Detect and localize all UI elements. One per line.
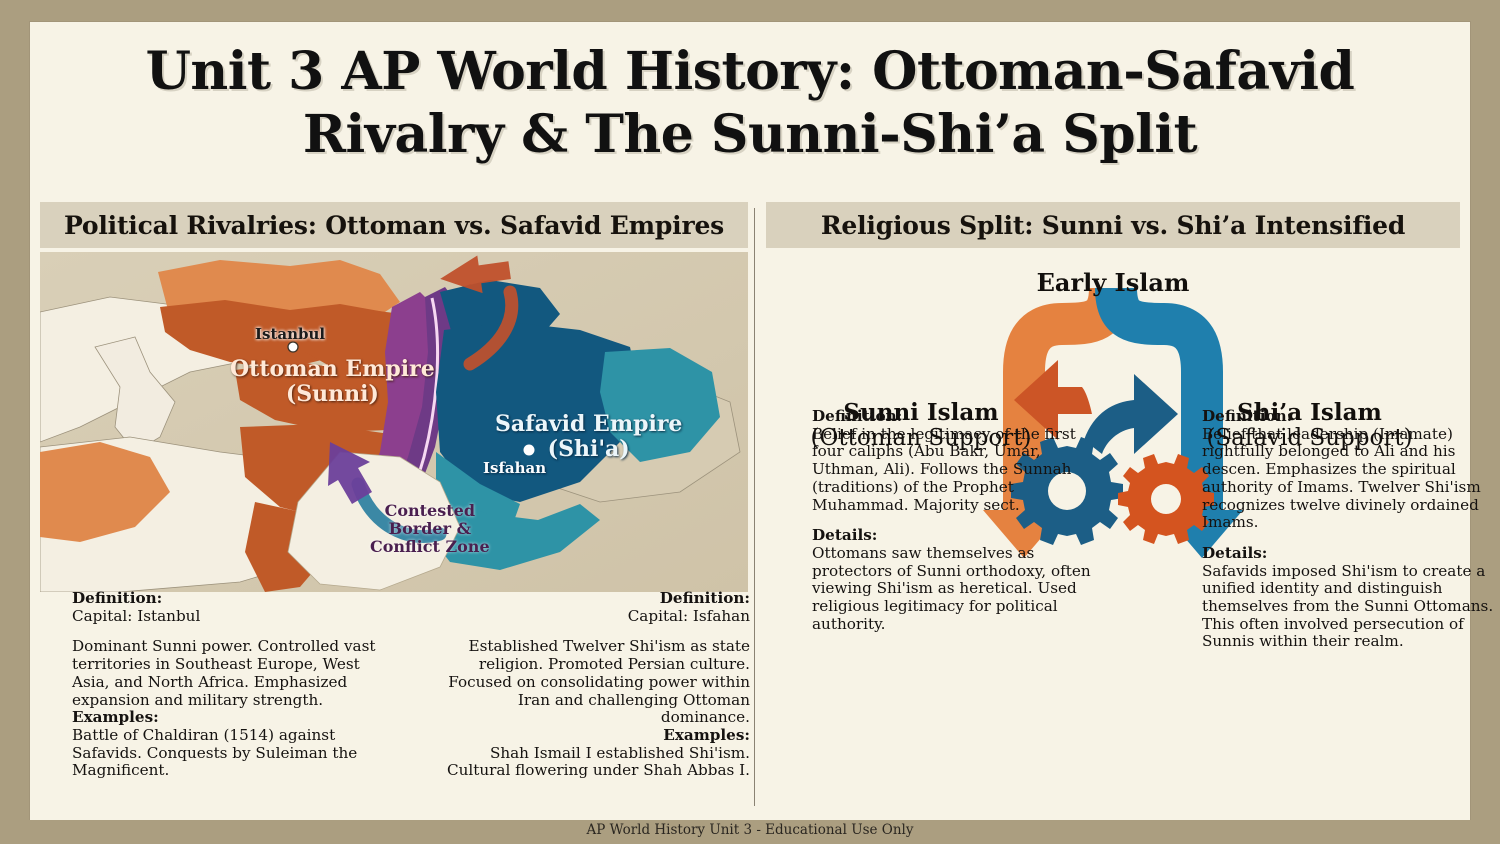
page-title: Unit 3 AP World History: Ottoman-Safavid… bbox=[30, 40, 1470, 167]
shia-text-column: Definition: Belief that leadership (Imam… bbox=[1202, 408, 1500, 651]
sunni-details-label: Details: bbox=[812, 527, 1112, 545]
shia-details-value: Safavids imposed Shi'ism to create a uni… bbox=[1202, 563, 1500, 652]
footer-bar: AP World History Unit 3 - Educational Us… bbox=[0, 820, 1500, 844]
istanbul-dot bbox=[288, 342, 298, 352]
safavid-definition-label: Definition: bbox=[428, 590, 750, 608]
ottoman-safavid-map: Istanbul Ottoman Empire (Sunni) Safavid … bbox=[40, 252, 748, 592]
sunni-definition-value: Belief in the legitimacy of the first fo… bbox=[812, 426, 1112, 515]
map-svg bbox=[40, 252, 748, 592]
right-panel-header-label: Religious Split: Sunni vs. Shi’a Intensi… bbox=[821, 211, 1405, 240]
sunni-definition-label: Definition: bbox=[812, 408, 1112, 426]
spacer bbox=[1202, 532, 1500, 545]
shia-definition-value: Belief that leadership (Imamate) rightfu… bbox=[1202, 426, 1500, 532]
ottoman-examples-label: Examples: bbox=[72, 709, 378, 727]
left-panel: Political Rivalries: Ottoman vs. Safavid… bbox=[36, 202, 752, 802]
shia-definition-label: Definition: bbox=[1202, 408, 1500, 426]
isfahan-dot bbox=[524, 445, 535, 456]
shia-details-label: Details: bbox=[1202, 545, 1500, 563]
footer-text: AP World History Unit 3 - Educational Us… bbox=[0, 822, 1500, 838]
sunni-text-column: Definition: Belief in the legitimacy of … bbox=[812, 408, 1112, 633]
sunni-details-value: Ottomans saw themselves as protectors of… bbox=[812, 545, 1112, 634]
safavid-examples-value: Shah Ismail I established Shi'ism. Cultu… bbox=[428, 745, 750, 780]
poster-frame: Unit 3 AP World History: Ottoman-Safavid… bbox=[30, 22, 1470, 822]
ottoman-body-text: Dominant Sunni power. Controlled vast te… bbox=[72, 638, 378, 709]
right-panel-header: Religious Split: Sunni vs. Shi’a Intensi… bbox=[766, 202, 1460, 248]
ottoman-definition-value: Capital: Istanbul bbox=[72, 608, 378, 626]
page-title-line-2: Rivalry & The Sunni-Shi’a Split bbox=[30, 103, 1470, 166]
ottoman-examples-value: Battle of Chaldiran (1514) against Safav… bbox=[72, 727, 378, 780]
ottoman-text-column: Definition: Capital: Istanbul Dominant S… bbox=[72, 590, 378, 780]
ottoman-definition-label: Definition: bbox=[72, 590, 378, 608]
panel-divider bbox=[754, 208, 755, 806]
page-title-line-1: Unit 3 AP World History: Ottoman-Safavid bbox=[30, 40, 1470, 103]
safavid-text-column: Definition: Capital: Isfahan Established… bbox=[428, 590, 750, 780]
safavid-definition-value: Capital: Isfahan bbox=[428, 608, 750, 626]
safavid-examples-label: Examples: bbox=[428, 727, 750, 745]
left-panel-header: Political Rivalries: Ottoman vs. Safavid… bbox=[40, 202, 748, 248]
diagram-root-label: Early Islam bbox=[762, 268, 1464, 297]
left-panel-header-label: Political Rivalries: Ottoman vs. Safavid… bbox=[64, 211, 724, 240]
safavid-body-text: Established Twelver Shi'ism as state rel… bbox=[428, 638, 750, 727]
